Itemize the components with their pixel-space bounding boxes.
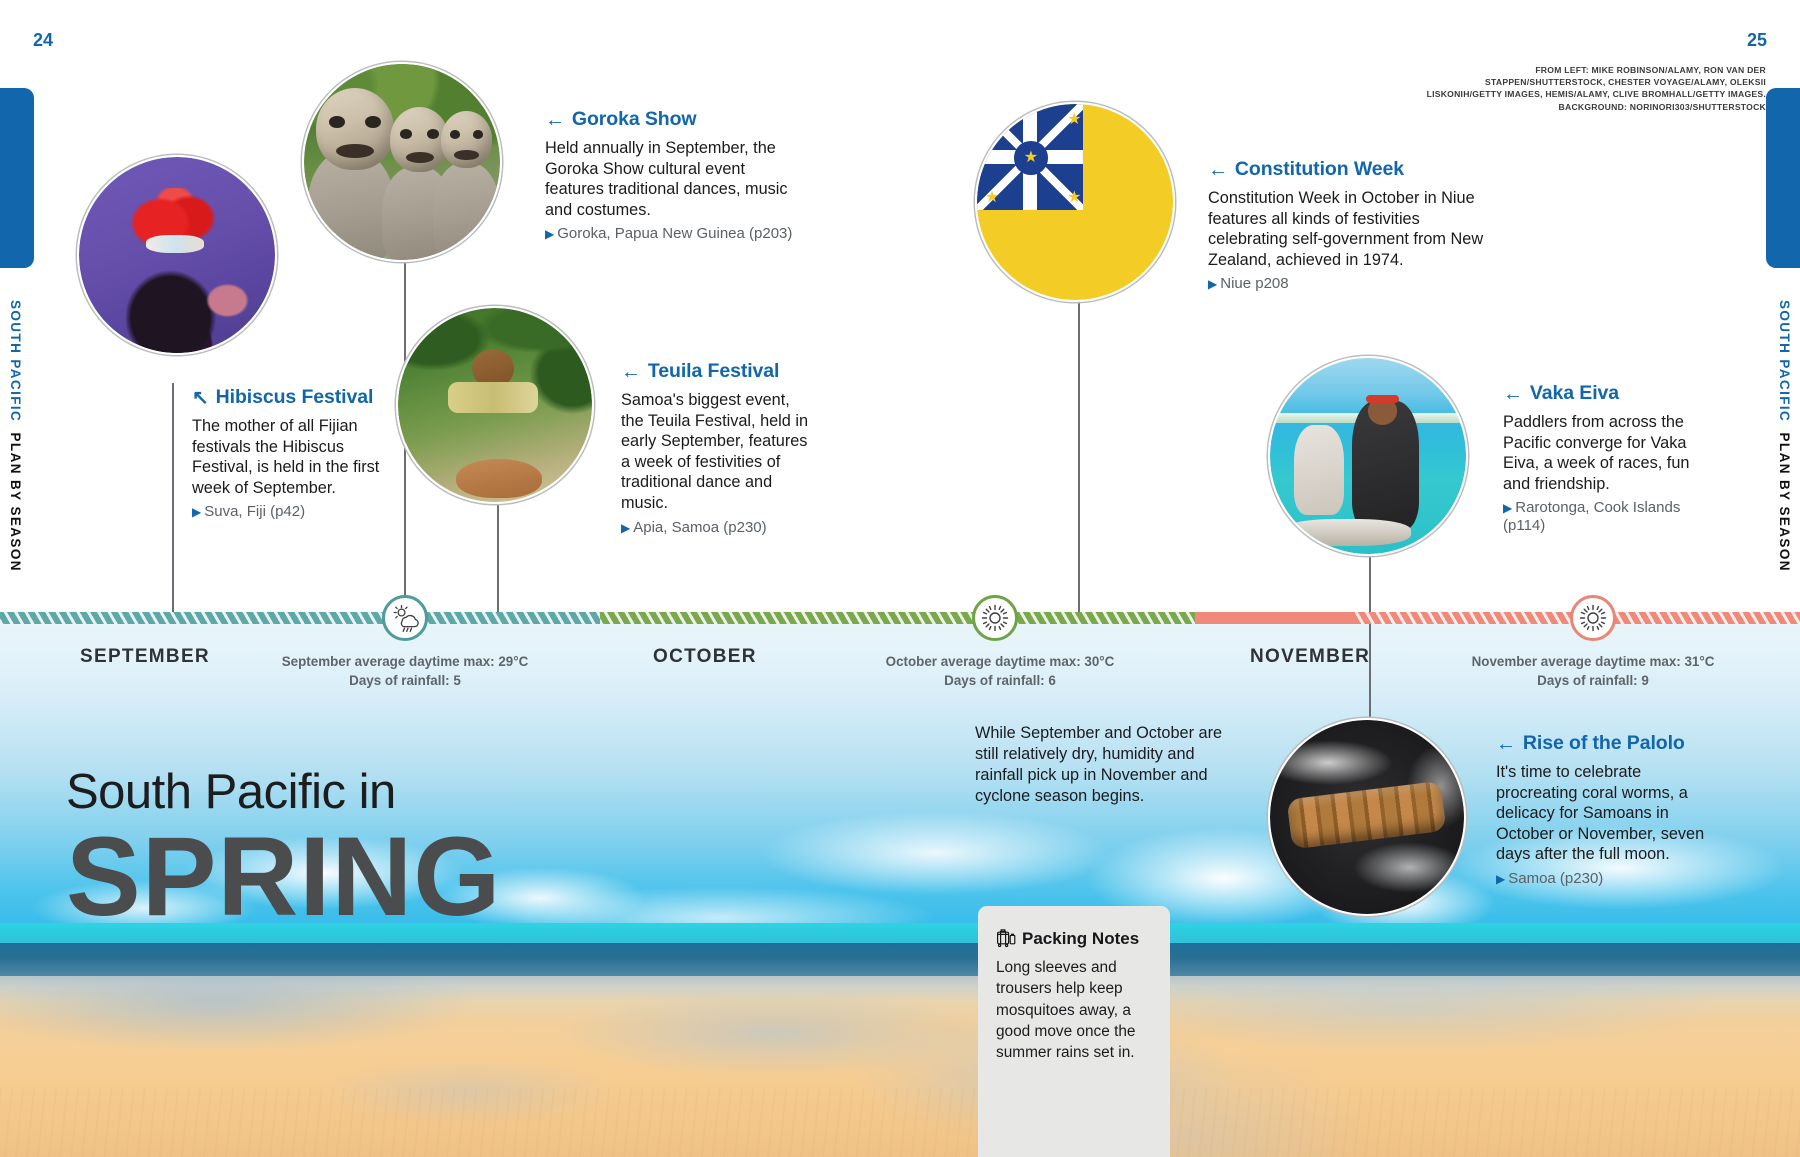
connector-teuila — [497, 504, 499, 618]
side-label-brand: SOUTH PACIFIC — [8, 300, 23, 422]
event-teuila-festival: ← Teuila Festival Samoa's biggest event,… — [621, 360, 811, 537]
weather-icon-november — [1570, 595, 1616, 641]
palolo-worm-photo — [1268, 718, 1466, 916]
packing-notes-box: Packing Notes Long sleeves and trousers … — [978, 906, 1170, 1157]
triangle-icon: ▶ — [621, 521, 630, 535]
event-ref-text: Niue p208 — [1220, 275, 1288, 292]
niue-flag-photo: ★ ★ ★ ★ ★ — [975, 102, 1175, 302]
month-label-september: SEPTEMBER — [80, 646, 210, 668]
triangle-icon: ▶ — [1208, 277, 1217, 291]
left-arrow-icon: ← — [1496, 734, 1516, 754]
page-number-right: 25 — [1747, 30, 1767, 51]
weather-icon-september — [382, 595, 428, 641]
up-left-arrow-icon: ↖ — [192, 388, 209, 408]
triangle-icon: ▶ — [545, 227, 554, 241]
month-label-november: NOVEMBER — [1250, 646, 1370, 668]
triangle-icon: ▶ — [192, 505, 201, 519]
event-title-text: Goroka Show — [572, 108, 697, 131]
page-number-left: 24 — [33, 30, 53, 51]
left-arrow-icon: ← — [1503, 384, 1523, 404]
triangle-icon: ▶ — [1496, 872, 1505, 886]
triangle-icon: ▶ — [1503, 501, 1512, 515]
event-title-text: Vaka Eiva — [1530, 382, 1619, 405]
sand-ripples — [0, 1088, 1800, 1157]
sun-icon — [1578, 603, 1608, 633]
event-body-vaka: Paddlers from across the Pacific converg… — [1503, 412, 1713, 494]
event-constitution-week: ← Constitution Week Constitution Week in… — [1208, 158, 1490, 293]
timeline-november-lip — [1195, 612, 1355, 624]
event-hibiscus-festival: ↖ Hibiscus Festival The mother of all Fi… — [192, 386, 390, 521]
side-label-brand-right: SOUTH PACIFIC — [1777, 300, 1792, 422]
hero-line-1: South Pacific in — [66, 768, 501, 817]
packing-notes-title-row: Packing Notes — [996, 928, 1152, 949]
left-arrow-icon: ← — [621, 362, 641, 382]
left-arrow-icon: ← — [545, 110, 565, 130]
event-ref-goroka[interactable]: ▶Goroka, Papua New Guinea (p203) — [545, 225, 805, 243]
event-title-text: Rise of the Palolo — [1523, 732, 1685, 755]
event-body-palolo: It's time to celebrate procreating coral… — [1496, 762, 1716, 865]
sun-rain-cloud-icon — [390, 603, 420, 633]
event-ref-palolo[interactable]: ▶Samoa (p230) — [1496, 870, 1716, 888]
event-ref-text: Apia, Samoa (p230) — [633, 519, 766, 536]
left-side-label: SOUTH PACIFIC PLAN BY SEASON — [8, 300, 23, 572]
event-ref-constitution[interactable]: ▶Niue p208 — [1208, 275, 1490, 293]
event-body-goroka: Held annually in September, the Goroka S… — [545, 138, 805, 220]
event-goroka-show: ← Goroka Show Held annually in September… — [545, 108, 805, 243]
season-summary-paragraph: While September and October are still re… — [975, 723, 1225, 806]
hero-title: South Pacific in SPRING — [66, 768, 501, 931]
event-title-hibiscus: ↖ Hibiscus Festival — [192, 386, 390, 409]
rain-october: Days of rainfall: 6 — [886, 671, 1115, 690]
event-title-text: Constitution Week — [1235, 158, 1404, 181]
event-ref-text: Goroka, Papua New Guinea (p203) — [557, 225, 792, 242]
teuila-festival-photo — [396, 306, 594, 504]
event-ref-hibiscus[interactable]: ▶Suva, Fiji (p42) — [192, 503, 390, 521]
event-ref-text: Rarotonga, Cook Islands (p114) — [1503, 499, 1680, 534]
event-title-goroka: ← Goroka Show — [545, 108, 805, 131]
rain-september: Days of rainfall: 5 — [282, 671, 529, 690]
packing-notes-body: Long sleeves and trousers help keep mosq… — [996, 957, 1152, 1063]
temp-october: October average daytime max: 30°C — [886, 652, 1115, 671]
side-label-section: PLAN BY SEASON — [8, 433, 23, 572]
rain-november: Days of rainfall: 9 — [1472, 671, 1715, 690]
event-ref-text: Samoa (p230) — [1508, 870, 1603, 887]
vaka-eiva-photo — [1268, 356, 1468, 556]
event-ref-text: Suva, Fiji (p42) — [204, 503, 305, 520]
month-label-october: OCTOBER — [653, 646, 757, 668]
side-label-section-right: PLAN BY SEASON — [1777, 433, 1792, 572]
event-title-vaka: ← Vaka Eiva — [1503, 382, 1713, 405]
connector-hibiscus — [172, 383, 174, 618]
temp-september: September average daytime max: 29°C — [282, 652, 529, 671]
hibiscus-festival-photo — [77, 155, 277, 355]
timeline-segment-september — [0, 612, 600, 624]
goroka-show-photo — [302, 62, 502, 262]
luggage-icon — [996, 928, 1018, 949]
sun-icon — [980, 603, 1010, 633]
right-section-tab — [1766, 88, 1800, 268]
event-vaka-eiva: ← Vaka Eiva Paddlers from across the Pac… — [1503, 382, 1713, 535]
event-title-text: Hibiscus Festival — [216, 386, 374, 409]
event-title-text: Teuila Festival — [648, 360, 779, 383]
spread-page: SOUTH PACIFIC PLAN BY SEASON SOUTH PACIF… — [0, 0, 1800, 1157]
event-body-constitution: Constitution Week in October in Niue fea… — [1208, 188, 1490, 270]
season-timeline — [0, 612, 1800, 624]
event-ref-vaka[interactable]: ▶Rarotonga, Cook Islands (p114) — [1503, 499, 1713, 535]
left-section-tab — [0, 88, 34, 268]
left-arrow-icon: ← — [1208, 160, 1228, 180]
event-body-hibiscus: The mother of all Fijian festivals the H… — [192, 416, 390, 498]
hero-line-2: SPRING — [66, 823, 501, 931]
event-body-teuila: Samoa's biggest event, the Teuila Festiv… — [621, 390, 811, 514]
right-side-label: SOUTH PACIFIC PLAN BY SEASON — [1777, 300, 1792, 572]
temp-november: November average daytime max: 31°C — [1472, 652, 1715, 671]
event-rise-of-the-palolo: ← Rise of the Palolo It's time to celebr… — [1496, 732, 1716, 888]
weather-icon-october — [972, 595, 1018, 641]
timeline-segment-october — [600, 612, 1195, 624]
packing-notes-title: Packing Notes — [1022, 929, 1139, 949]
event-title-palolo: ← Rise of the Palolo — [1496, 732, 1716, 755]
event-ref-teuila[interactable]: ▶Apia, Samoa (p230) — [621, 519, 811, 537]
connector-constitution — [1078, 300, 1080, 618]
photo-credits: FROM LEFT: MIKE ROBINSON/ALAMY, RON VAN … — [1416, 64, 1766, 113]
event-title-constitution: ← Constitution Week — [1208, 158, 1490, 181]
event-title-teuila: ← Teuila Festival — [621, 360, 811, 383]
